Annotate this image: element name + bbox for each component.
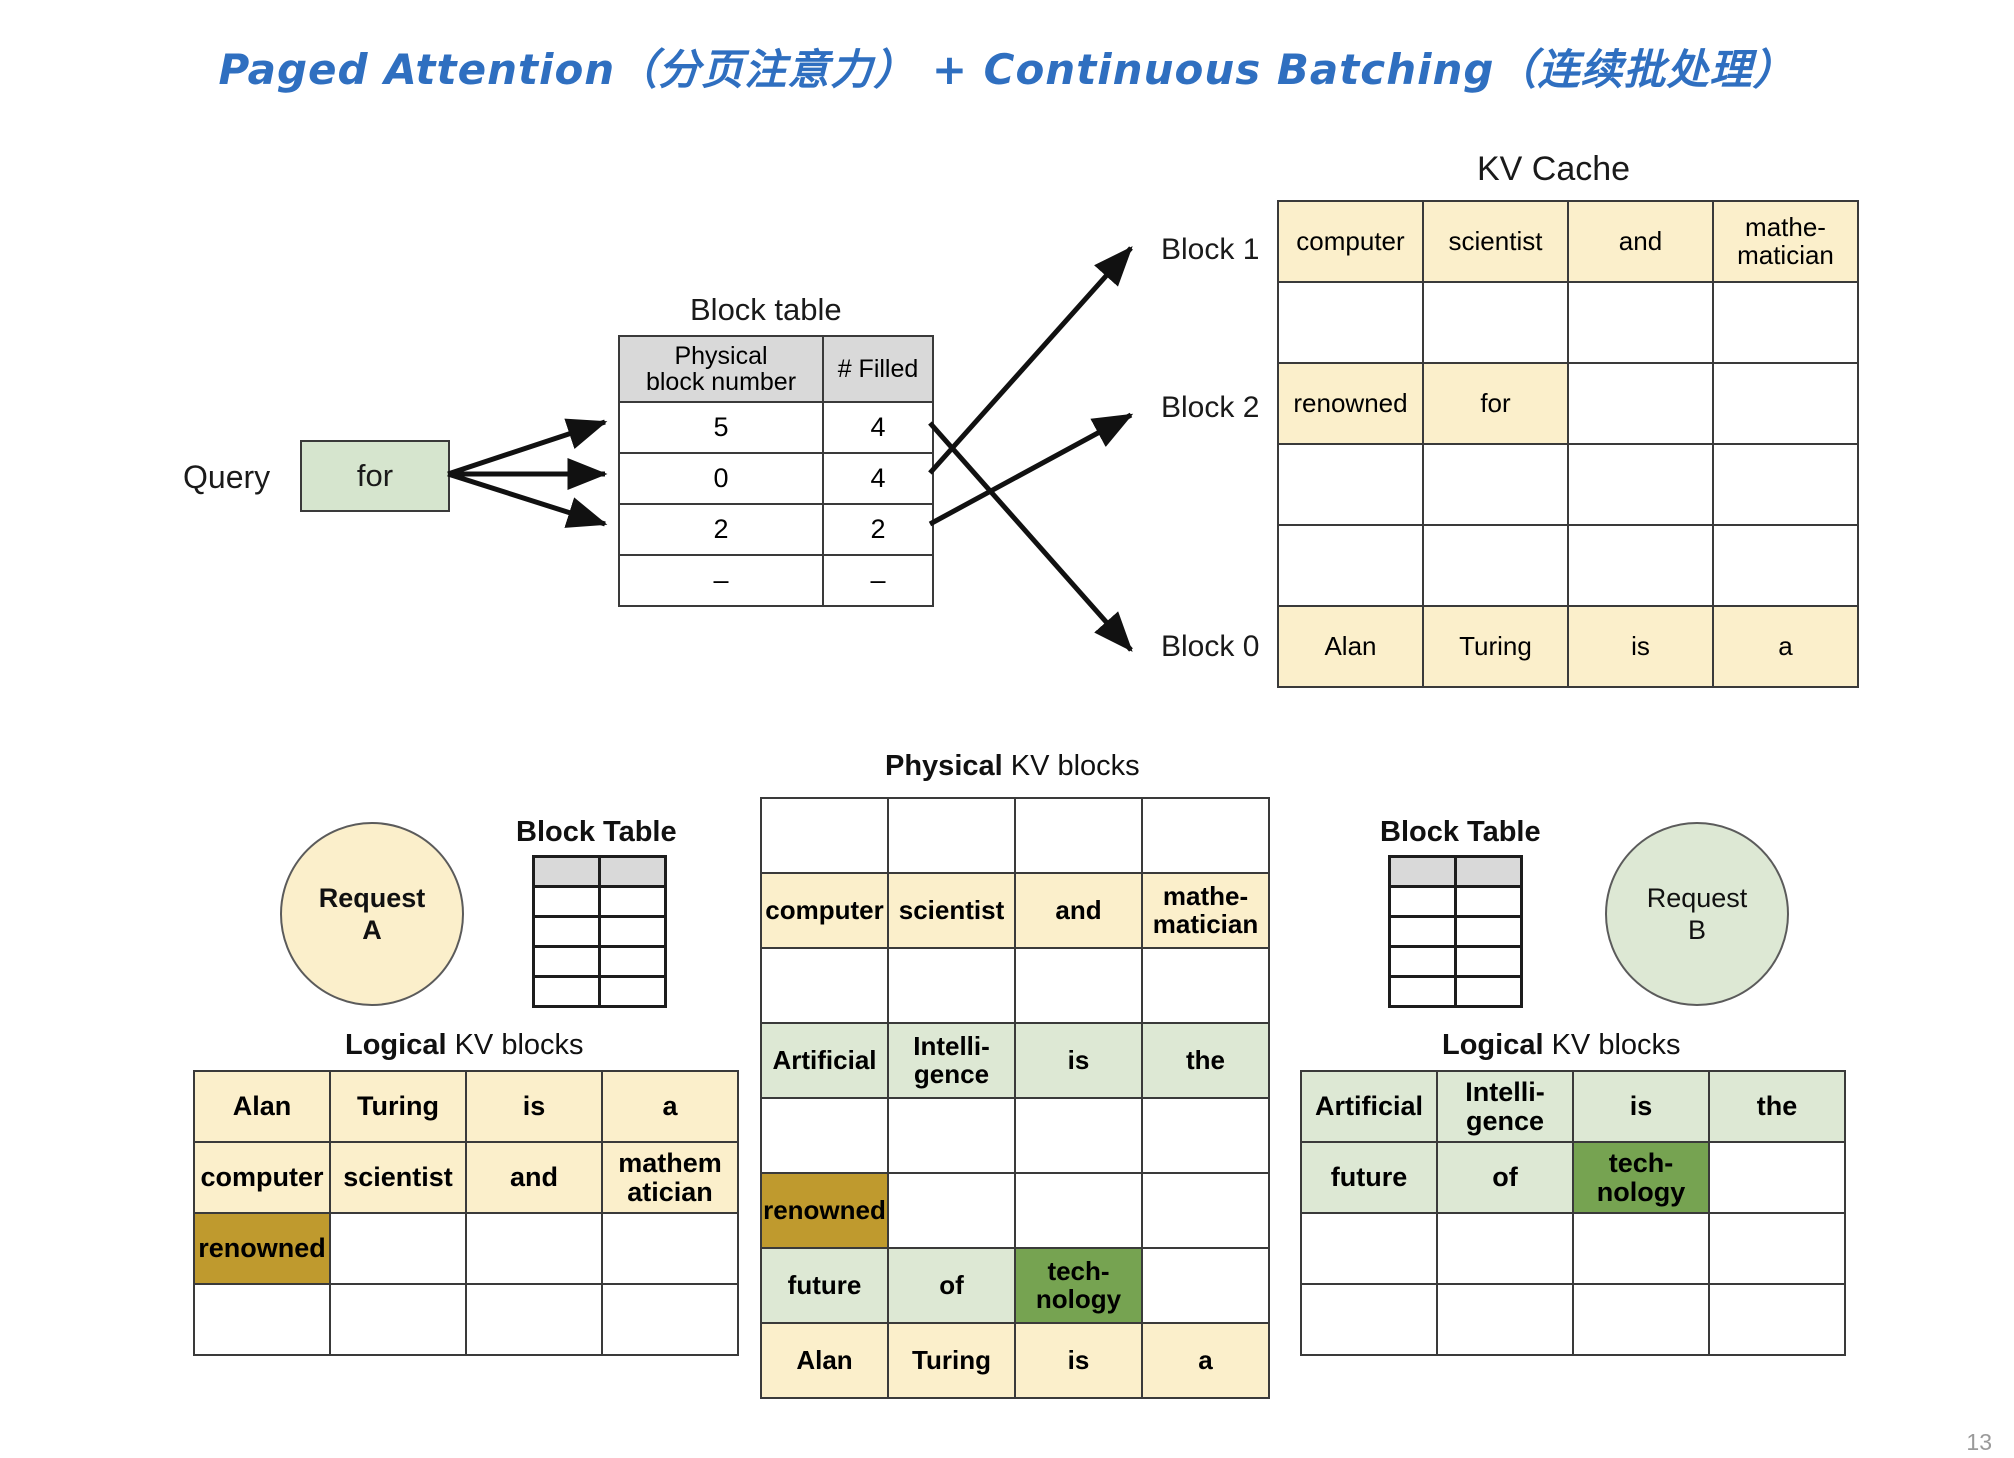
kv-cache-cell: is bbox=[1568, 606, 1713, 687]
kv-cache-cell: and bbox=[1568, 201, 1713, 282]
block-table-a-row bbox=[534, 917, 666, 947]
block-table-b-cell bbox=[1456, 977, 1522, 1007]
logical-a-cell bbox=[466, 1213, 602, 1284]
physical-kv-blocks: computerscientistandmathe-maticianArtifi… bbox=[760, 797, 1270, 1399]
physical-cell: is bbox=[1015, 1323, 1142, 1398]
physical-cell-line: Intelli- bbox=[889, 1033, 1014, 1060]
physical-cell bbox=[1142, 1248, 1269, 1323]
logical-b-cell-line: tech- bbox=[1574, 1149, 1708, 1177]
kv-cache-table: computerscientistandmathe-maticianrenown… bbox=[1277, 200, 1859, 688]
block-table-b-row bbox=[1390, 887, 1522, 917]
physical-cell bbox=[888, 948, 1015, 1023]
block-table-b-cell bbox=[1456, 947, 1522, 977]
logical-a-cell: is bbox=[466, 1071, 602, 1142]
physical-cell: computer bbox=[761, 873, 888, 948]
physical-cell bbox=[1015, 948, 1142, 1023]
kv-cache-row: renownedfor bbox=[1278, 363, 1858, 444]
block-table-a-row bbox=[534, 977, 666, 1007]
block-table-a-cell bbox=[600, 947, 666, 977]
physical-cell: the bbox=[1142, 1023, 1269, 1098]
physical-cell: and bbox=[1015, 873, 1142, 948]
logical-b-title-rest: KV blocks bbox=[1544, 1029, 1681, 1061]
physical-cell: scientist bbox=[888, 873, 1015, 948]
kv-cache-cell: renowned bbox=[1278, 363, 1423, 444]
kv-cache-cell: Turing bbox=[1423, 606, 1568, 687]
logical-b-cell: future bbox=[1301, 1142, 1437, 1213]
block-table-row: 2 2 bbox=[619, 504, 933, 555]
kv-cache-cell bbox=[1568, 525, 1713, 606]
logical-a-row bbox=[194, 1284, 738, 1355]
physical-cell: Artificial bbox=[761, 1023, 888, 1098]
block-table-b-cell bbox=[1456, 887, 1522, 917]
physical-title-bold: Physical bbox=[885, 750, 1003, 782]
logical-a-cell: Alan bbox=[194, 1071, 330, 1142]
block-table-a-header-cell bbox=[534, 857, 600, 887]
logical-kv-blocks-a: AlanTuringisacomputerscientistandmathema… bbox=[193, 1070, 739, 1356]
logical-b-cell bbox=[1573, 1213, 1709, 1284]
block-table-b-cell bbox=[1390, 917, 1456, 947]
kv-cache-cell: Alan bbox=[1278, 606, 1423, 687]
physical-row: futureoftech-nology bbox=[761, 1248, 1269, 1323]
block-table-a-cell bbox=[534, 977, 600, 1007]
physical-row: ArtificialIntelli-genceisthe bbox=[761, 1023, 1269, 1098]
kv-cache-cell bbox=[1568, 444, 1713, 525]
physical-cell-line: gence bbox=[889, 1061, 1014, 1088]
block-table-b-header-row bbox=[1390, 857, 1522, 887]
physical-row: computerscientistandmathe-matician bbox=[761, 873, 1269, 948]
logical-kv-blocks-a-title: Logical KV blocks bbox=[345, 1029, 584, 1062]
kv-cache-block-2-label: Block 2 bbox=[1161, 391, 1259, 425]
request-a-line2: A bbox=[362, 914, 382, 946]
physical-cell bbox=[1015, 1173, 1142, 1248]
kv-cache-row bbox=[1278, 282, 1858, 363]
logical-a-cell: computer bbox=[194, 1142, 330, 1213]
logical-b-cell: the bbox=[1709, 1071, 1845, 1142]
arrow-query-to-row1 bbox=[448, 422, 605, 474]
query-label: Query bbox=[183, 459, 270, 496]
logical-a-cell: Turing bbox=[330, 1071, 466, 1142]
block-table-b-cell bbox=[1456, 917, 1522, 947]
arrow-row3-to-block2 bbox=[930, 415, 1131, 524]
block-table-cell-filled: 4 bbox=[823, 453, 933, 504]
block-table-b-cell bbox=[1390, 977, 1456, 1007]
logical-b-title-bold: Logical bbox=[1442, 1029, 1544, 1061]
logical-kv-blocks-b-title: Logical KV blocks bbox=[1442, 1029, 1681, 1062]
physical-cell bbox=[761, 1098, 888, 1173]
physical-cell-line: mathe- bbox=[1143, 883, 1268, 910]
physical-title-rest: KV blocks bbox=[1003, 750, 1140, 782]
block-table-a-cell bbox=[534, 917, 600, 947]
logical-b-cell bbox=[1301, 1284, 1437, 1355]
kv-cache-block-1-label: Block 1 bbox=[1161, 233, 1259, 267]
logical-b-cell bbox=[1709, 1213, 1845, 1284]
physical-cell bbox=[1015, 798, 1142, 873]
arrow-row1-to-block0 bbox=[930, 423, 1131, 650]
logical-b-cell: of bbox=[1437, 1142, 1573, 1213]
logical-b-cell-line: gence bbox=[1438, 1107, 1572, 1135]
kv-cache-cell bbox=[1423, 525, 1568, 606]
kv-cache-cell: scientist bbox=[1423, 201, 1568, 282]
logical-b-cell: is bbox=[1573, 1071, 1709, 1142]
request-a-circle: Request A bbox=[280, 822, 464, 1006]
kv-cache-cell: computer bbox=[1278, 201, 1423, 282]
block-table-a-row bbox=[534, 947, 666, 977]
physical-row bbox=[761, 798, 1269, 873]
block-table-a-header-row bbox=[534, 857, 666, 887]
physical-cell bbox=[1142, 798, 1269, 873]
physical-cell bbox=[761, 948, 888, 1023]
kv-cache-cell: for bbox=[1423, 363, 1568, 444]
physical-row: renowned bbox=[761, 1173, 1269, 1248]
block-table-header-filled: # Filled bbox=[823, 336, 933, 402]
logical-kv-blocks-b: ArtificialIntelli-genceisthefutureoftech… bbox=[1300, 1070, 1846, 1356]
kv-cache-cell bbox=[1713, 363, 1858, 444]
physical-cell: future bbox=[761, 1248, 888, 1323]
query-token-box: for bbox=[300, 440, 450, 512]
physical-cell: Turing bbox=[888, 1323, 1015, 1398]
block-table-header-line1: Physical bbox=[620, 343, 822, 369]
physical-cell: a bbox=[1142, 1323, 1269, 1398]
physical-cell-line: nology bbox=[1016, 1286, 1141, 1313]
kv-cache-cell: mathe-matician bbox=[1713, 201, 1858, 282]
logical-a-row: AlanTuringisa bbox=[194, 1071, 738, 1142]
block-table-b-title: Block Table bbox=[1380, 816, 1541, 849]
kv-cache-cell bbox=[1713, 444, 1858, 525]
block-table-header-row: Physical block number # Filled bbox=[619, 336, 933, 402]
page-number: 13 bbox=[1966, 1429, 1992, 1456]
logical-b-cell bbox=[1573, 1284, 1709, 1355]
block-table-a-cell bbox=[600, 977, 666, 1007]
block-table-a-header-cell bbox=[600, 857, 666, 887]
block-table-a-title: Block Table bbox=[516, 816, 677, 849]
logical-a-cell bbox=[330, 1284, 466, 1355]
block-table-b-cell bbox=[1390, 947, 1456, 977]
logical-a-title-bold: Logical bbox=[345, 1029, 447, 1061]
request-a-line1: Request bbox=[319, 882, 426, 914]
block-table-header-physical: Physical block number bbox=[619, 336, 823, 402]
logical-a-cell: mathematician bbox=[602, 1142, 738, 1213]
physical-cell bbox=[888, 1098, 1015, 1173]
kv-cache-block-0-label: Block 0 bbox=[1161, 630, 1259, 664]
request-b-line2: B bbox=[1688, 914, 1706, 946]
kv-cache-row: computerscientistandmathe-matician bbox=[1278, 201, 1858, 282]
logical-a-cell bbox=[330, 1213, 466, 1284]
physical-cell: mathe-matician bbox=[1142, 873, 1269, 948]
block-table-a bbox=[532, 855, 667, 1008]
physical-cell: is bbox=[1015, 1023, 1142, 1098]
kv-cache-cell-line: mathe- bbox=[1714, 214, 1857, 241]
logical-b-cell bbox=[1709, 1284, 1845, 1355]
physical-cell bbox=[1015, 1098, 1142, 1173]
kv-cache-cell bbox=[1713, 525, 1858, 606]
logical-b-row bbox=[1301, 1213, 1845, 1284]
logical-a-cell-line: atician bbox=[603, 1178, 737, 1206]
kv-cache-cell bbox=[1568, 363, 1713, 444]
kv-cache-title: KV Cache bbox=[1477, 150, 1630, 189]
logical-b-row: futureoftech-nology bbox=[1301, 1142, 1845, 1213]
physical-kv-blocks-title: Physical KV blocks bbox=[885, 750, 1140, 783]
logical-a-cell: and bbox=[466, 1142, 602, 1213]
logical-a-cell: renowned bbox=[194, 1213, 330, 1284]
kv-cache-cell bbox=[1278, 444, 1423, 525]
block-table-cell-filled: 4 bbox=[823, 402, 933, 453]
physical-row: AlanTuringisa bbox=[761, 1323, 1269, 1398]
block-table-row: 5 4 bbox=[619, 402, 933, 453]
kv-cache-row bbox=[1278, 525, 1858, 606]
logical-b-cell bbox=[1709, 1142, 1845, 1213]
block-table-b-header-cell bbox=[1456, 857, 1522, 887]
block-table-b-cell bbox=[1390, 887, 1456, 917]
kv-cache-cell: a bbox=[1713, 606, 1858, 687]
block-table: Physical block number # Filled 5 4 0 4 2… bbox=[618, 335, 934, 607]
logical-b-cell: tech-nology bbox=[1573, 1142, 1709, 1213]
physical-cell: Intelli-gence bbox=[888, 1023, 1015, 1098]
physical-cell: tech-nology bbox=[1015, 1248, 1142, 1323]
block-table-b-row bbox=[1390, 947, 1522, 977]
physical-row bbox=[761, 1098, 1269, 1173]
kv-cache-cell bbox=[1423, 444, 1568, 525]
kv-cache-row bbox=[1278, 444, 1858, 525]
physical-cell bbox=[1142, 1173, 1269, 1248]
logical-a-cell bbox=[602, 1284, 738, 1355]
block-table-b bbox=[1388, 855, 1523, 1008]
block-table-header-line2: block number bbox=[620, 369, 822, 395]
logical-b-cell bbox=[1437, 1213, 1573, 1284]
physical-cell bbox=[761, 798, 888, 873]
physical-cell: of bbox=[888, 1248, 1015, 1323]
kv-cache-cell bbox=[1278, 282, 1423, 363]
kv-cache-row: AlanTuringisa bbox=[1278, 606, 1858, 687]
physical-cell bbox=[888, 1173, 1015, 1248]
request-b-circle: Request B bbox=[1605, 822, 1789, 1006]
page-title: Paged Attention（分页注意力） + Continuous Batc… bbox=[0, 36, 2014, 97]
physical-cell: Alan bbox=[761, 1323, 888, 1398]
logical-a-cell: a bbox=[602, 1071, 738, 1142]
logical-a-cell bbox=[194, 1284, 330, 1355]
physical-cell bbox=[1142, 1098, 1269, 1173]
logical-a-cell-line: mathem bbox=[603, 1149, 737, 1177]
logical-a-row: computerscientistandmathematician bbox=[194, 1142, 738, 1213]
physical-cell bbox=[888, 798, 1015, 873]
logical-a-title-rest: KV blocks bbox=[447, 1029, 584, 1061]
logical-b-cell-line: Intelli- bbox=[1438, 1078, 1572, 1106]
arrow-row2-to-block1 bbox=[930, 248, 1131, 473]
block-table-cell-filled: – bbox=[823, 555, 933, 606]
logical-b-cell bbox=[1437, 1284, 1573, 1355]
block-table-b-row bbox=[1390, 977, 1522, 1007]
kv-cache-cell bbox=[1713, 282, 1858, 363]
logical-b-cell: Artificial bbox=[1301, 1071, 1437, 1142]
physical-row bbox=[761, 948, 1269, 1023]
physical-cell: renowned bbox=[761, 1173, 888, 1248]
logical-a-cell: scientist bbox=[330, 1142, 466, 1213]
physical-cell-line: matician bbox=[1143, 911, 1268, 938]
block-table-b-header-cell bbox=[1390, 857, 1456, 887]
kv-cache-cell bbox=[1568, 282, 1713, 363]
logical-b-cell-line: nology bbox=[1574, 1178, 1708, 1206]
arrow-query-to-row3 bbox=[448, 474, 605, 524]
block-table-title: Block table bbox=[690, 292, 842, 328]
block-table-a-cell bbox=[600, 887, 666, 917]
block-table-cell-block: 5 bbox=[619, 402, 823, 453]
block-table-a-cell bbox=[600, 917, 666, 947]
block-table-row: 0 4 bbox=[619, 453, 933, 504]
kv-cache-cell bbox=[1423, 282, 1568, 363]
logical-b-row bbox=[1301, 1284, 1845, 1355]
logical-b-cell: Intelli-gence bbox=[1437, 1071, 1573, 1142]
kv-cache-cell bbox=[1278, 525, 1423, 606]
block-table-cell-block: – bbox=[619, 555, 823, 606]
logical-b-row: ArtificialIntelli-genceisthe bbox=[1301, 1071, 1845, 1142]
block-table-cell-filled: 2 bbox=[823, 504, 933, 555]
logical-a-row: renowned bbox=[194, 1213, 738, 1284]
physical-cell-line: tech- bbox=[1016, 1258, 1141, 1285]
block-table-a-cell bbox=[534, 887, 600, 917]
block-table-row: – – bbox=[619, 555, 933, 606]
logical-a-cell bbox=[602, 1213, 738, 1284]
block-table-cell-block: 2 bbox=[619, 504, 823, 555]
block-table-b-row bbox=[1390, 917, 1522, 947]
request-b-line1: Request bbox=[1647, 882, 1748, 914]
kv-cache-cell-line: matician bbox=[1714, 242, 1857, 269]
logical-b-cell bbox=[1301, 1213, 1437, 1284]
logical-a-cell bbox=[466, 1284, 602, 1355]
block-table-a-cell bbox=[534, 947, 600, 977]
block-table-a-row bbox=[534, 887, 666, 917]
block-table-cell-block: 0 bbox=[619, 453, 823, 504]
physical-cell bbox=[1142, 948, 1269, 1023]
